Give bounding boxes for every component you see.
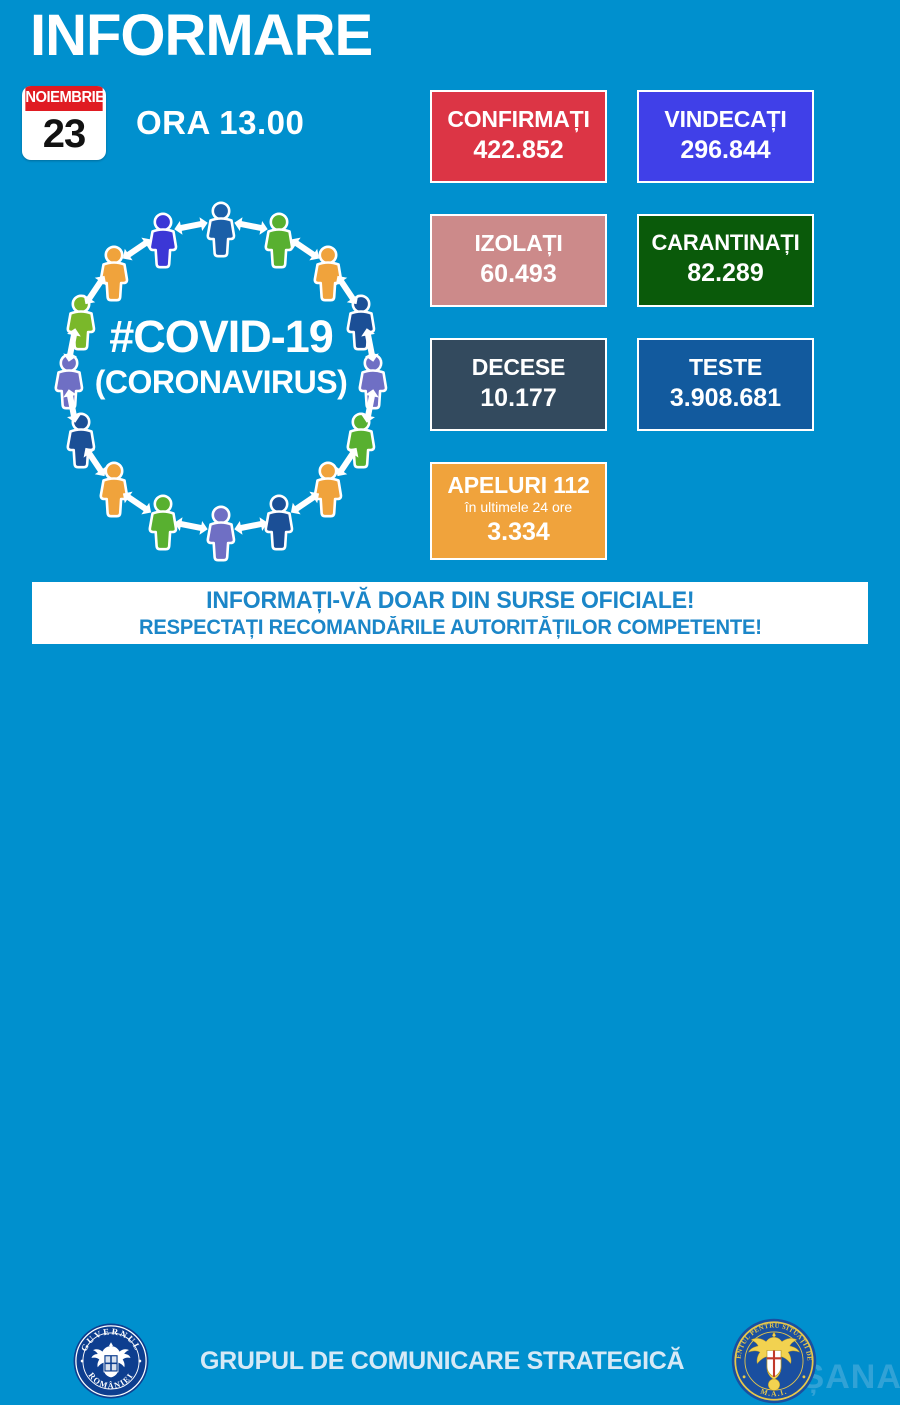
official-sources-banner: INFORMAȚI-VĂ DOAR DIN SURSE OFICIALE! RE… <box>32 582 868 644</box>
stat-label: CARANTINAȚI <box>643 231 808 255</box>
stat-label: APELURI 112 <box>436 473 601 498</box>
stat-label: VINDECAȚI <box>643 107 808 132</box>
calendar-day-label: 23 <box>22 111 106 160</box>
covid-circle-graphic: #COVID-19 (CORONAVIRUS) <box>30 190 412 562</box>
stat-card-carantinati: CARANTINAȚI 82.289 <box>637 214 814 307</box>
stat-card-confirmati: CONFIRMAȚI 422.852 <box>430 90 607 183</box>
stat-card-decese: DECESE 10.177 <box>430 338 607 431</box>
stat-label: IZOLAȚI <box>436 231 601 256</box>
stat-row: APELURI 112 în ultimele 24 ore 3.334 <box>430 462 870 560</box>
stat-value: 3.334 <box>436 519 601 547</box>
page-title: INFORMARE <box>30 4 372 68</box>
covid-hashtag-label: #COVID-19 <box>30 314 412 359</box>
stat-card-apeluri-112: APELURI 112 în ultimele 24 ore 3.334 <box>430 462 607 560</box>
government-of-romania-logo-icon: GUVERNUL ROMÂNIEI <box>72 1322 150 1400</box>
stat-card-teste: TESTE 3.908.681 <box>637 338 814 431</box>
calendar-icon: NOIEMBRIE 23 <box>22 86 106 160</box>
stat-label: CONFIRMAȚI <box>436 107 601 132</box>
statistics-grid: CONFIRMAȚI 422.852 VINDECAȚI 296.844 IZO… <box>430 90 870 591</box>
banner-line-primary: INFORMAȚI-VĂ DOAR DIN SURSE OFICIALE! <box>206 587 694 615</box>
stat-row: DECESE 10.177 TESTE 3.908.681 <box>430 338 870 431</box>
stat-value: 296.844 <box>643 137 808 165</box>
stat-value: 422.852 <box>436 137 601 165</box>
footer-title: GRUPUL DE COMUNICARE STRATEGICĂ <box>200 1347 684 1376</box>
stat-label: DECESE <box>436 355 601 380</box>
stat-label: TESTE <box>643 355 808 380</box>
stat-sublabel: în ultimele 24 ore <box>436 500 601 514</box>
stat-value: 82.289 <box>643 260 808 288</box>
banner-line-secondary: RESPECTAȚI RECOMANDĂRILE AUTORITĂȚILOR C… <box>139 616 762 640</box>
stat-value: 60.493 <box>436 261 601 289</box>
covid-subtitle-label: (CORONAVIRUS) <box>30 366 412 398</box>
grid-spacer <box>637 462 814 560</box>
stat-card-izolati: IZOLAȚI 60.493 <box>430 214 607 307</box>
stat-row: IZOLAȚI 60.493 CARANTINAȚI 82.289 <box>430 214 870 307</box>
stat-card-vindecati: VINDECAȚI 296.844 <box>637 90 814 183</box>
stat-value: 10.177 <box>436 385 601 413</box>
calendar-month-label: NOIEMBRIE <box>25 86 102 111</box>
stat-value: 3.908.681 <box>643 385 808 413</box>
date-row: NOIEMBRIE 23 ORA 13.00 <box>22 86 304 160</box>
hour-label: ORA 13.00 <box>136 104 304 142</box>
dsu-mai-logo-icon: DEPARTAMENTUL PENTRU SITUAȚII DE URGENȚĂ… <box>730 1317 818 1405</box>
stat-row: CONFIRMAȚI 422.852 VINDECAȚI 296.844 <box>430 90 870 183</box>
footer: GUVERNUL ROMÂNIEI GRUPUL DE COMUNICARE S… <box>0 655 900 756</box>
